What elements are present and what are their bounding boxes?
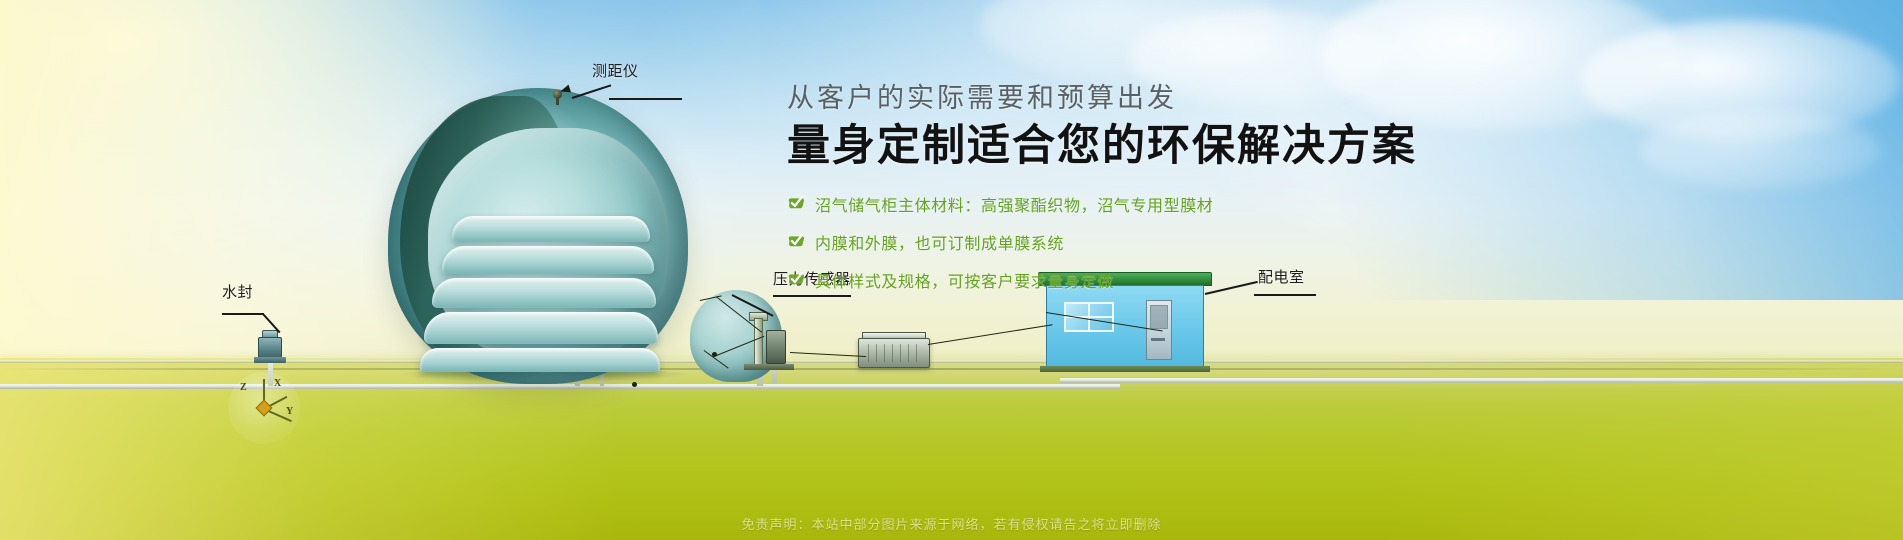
axis-label-z: Z (240, 382, 247, 393)
pipeline-right (1060, 378, 1903, 383)
blower-fin (916, 344, 917, 362)
field-warm-right (1383, 358, 1903, 540)
page-title: 量身定制适合您的环保解决方案 (787, 122, 1787, 171)
callout-label-water-seal: 水封 (222, 281, 253, 302)
control-panel-screen (1150, 305, 1168, 329)
house-foundation (1040, 366, 1210, 372)
marketing-copy: 从客户的实际需要和预算出发 量身定制适合您的环保解决方案 沼气储气柜主体材料：高… (787, 82, 1787, 306)
check-badge-icon (787, 194, 806, 213)
pressure-sensor-base (744, 364, 794, 370)
pipeline-main (0, 384, 1120, 389)
list-item-label: 具体样式及规格，可按客户要求量身定做 (815, 268, 1114, 292)
blower-fin (892, 344, 893, 362)
blower-fin (884, 344, 885, 362)
membrane-fold (442, 246, 654, 274)
list-item-label: 内膜和外膜，也可订制成单膜系统 (815, 230, 1064, 254)
blower-fin (876, 344, 877, 362)
membrane-fold (424, 312, 658, 344)
check-badge-icon (787, 232, 806, 251)
control-panel-button (1151, 338, 1165, 341)
water-seal-unit (258, 337, 282, 359)
list-item: 内膜和外膜，也可订制成单膜系统 (787, 230, 1787, 254)
membrane-fold (452, 216, 650, 242)
pressure-sensor-unit (766, 330, 786, 364)
water-seal-base (254, 357, 286, 363)
check-badge-icon (787, 270, 806, 289)
list-item-label: 沼气储气柜主体材料：高强聚酯织物，沼气专用型膜材 (815, 192, 1213, 216)
horizon-line (0, 368, 1903, 370)
membrane-fold (420, 348, 660, 372)
leader-line (609, 98, 682, 100)
disclaimer-text: 免责声明：本站中部分图片来源于网络，若有侵权请告之将立即删除 (0, 514, 1903, 533)
axis-label-x: X (274, 378, 281, 389)
blower-fin (900, 344, 901, 362)
pressure-sensor-pipe (754, 318, 763, 368)
junction-node (632, 382, 637, 387)
blower-fin (908, 344, 909, 362)
feature-list: 沼气储气柜主体材料：高强聚酯织物，沼气专用型膜材 内膜和外膜，也可订制成单膜系统 (787, 192, 1787, 292)
membrane-fold (432, 278, 656, 308)
list-item: 具体样式及规格，可按客户要求量身定做 (787, 268, 1787, 292)
junction-node (712, 352, 717, 357)
list-item: 沼气储气柜主体材料：高强聚酯织物，沼气专用型膜材 (787, 192, 1787, 216)
blower-fin (868, 344, 869, 362)
subtitle: 从客户的实际需要和预算出发 (787, 82, 1787, 114)
leader-line (222, 313, 264, 315)
hero-banner: 测距仪 水封 压力传感器 配电室 Z X Y 从客户的实际需要和预算出发 量身定… (0, 0, 1903, 540)
callout-label-rangefinder: 测距仪 (592, 60, 639, 81)
axis-label-y: Y (286, 406, 293, 417)
